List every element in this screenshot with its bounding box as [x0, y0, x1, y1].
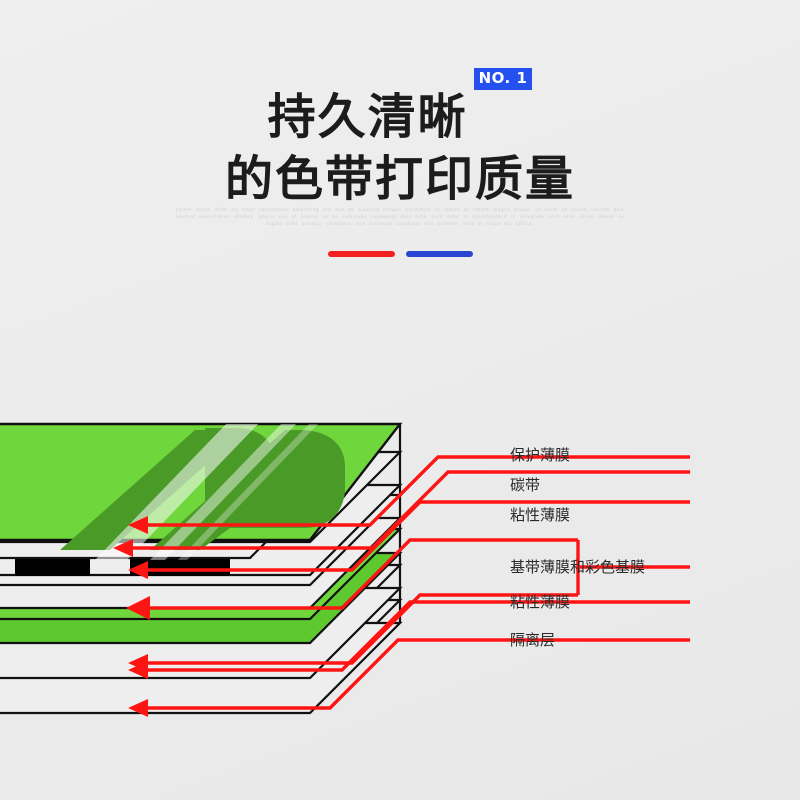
label-carbon-ribbon: 碳带 [510, 477, 540, 493]
diagram-labels: 保护薄膜 碳带 粘性薄膜 基带薄膜和彩色基膜 粘性薄膜 隔离层 [0, 400, 800, 800]
label-release-liner: 隔离层 [510, 632, 555, 648]
label-base-color-film: 基带薄膜和彩色基膜 [510, 559, 645, 575]
hero-section: 持久清晰NO. 1 的色带打印质量 Lorem ipsum dolor sit … [0, 0, 800, 300]
accent-rules [0, 243, 800, 262]
page-title: 持久清晰NO. 1 的色带打印质量 [0, 86, 800, 210]
accent-rule-blue [406, 251, 473, 257]
title-line-2: 的色带打印质量 [0, 148, 800, 210]
accent-rule-red [328, 251, 395, 257]
title-line-1-text: 持久清晰 [268, 89, 468, 145]
title-line-1: 持久清晰NO. 1 [0, 86, 800, 148]
page-root: 持久清晰NO. 1 的色带打印质量 Lorem ipsum dolor sit … [0, 0, 800, 800]
no1-badge: NO. 1 [474, 68, 533, 90]
label-adhesive-film-1: 粘性薄膜 [510, 507, 570, 523]
label-adhesive-film-2: 粘性薄膜 [510, 594, 570, 610]
label-protective-film: 保护薄膜 [510, 447, 570, 463]
hero-blurb: Lorem ipsum dolor sit amet consectetur a… [175, 207, 625, 228]
